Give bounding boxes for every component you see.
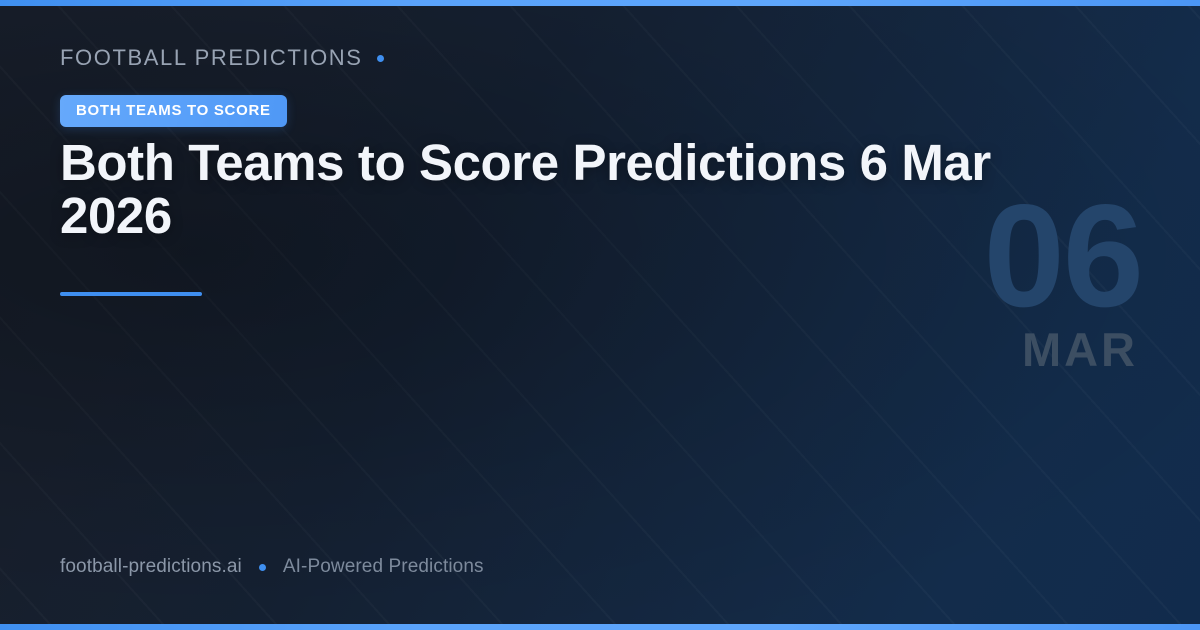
title-underline-accent — [60, 292, 202, 296]
page-title: Both Teams to Score Predictions 6 Mar 20… — [60, 136, 1070, 242]
card-content: FOOTBALL PREDICTIONS BOTH TEAMS TO SCORE… — [60, 0, 1140, 630]
footer: football-predictions.ai AI-Powered Predi… — [60, 556, 484, 578]
footer-separator-dot-icon — [259, 564, 266, 571]
eyebrow-dot-icon — [377, 55, 384, 62]
category-badge[interactable]: BOTH TEAMS TO SCORE — [60, 95, 287, 127]
footer-tagline: AI-Powered Predictions — [283, 556, 484, 578]
eyebrow-label: FOOTBALL PREDICTIONS — [60, 45, 363, 71]
og-card: 06 MAR FOOTBALL PREDICTIONS BOTH TEAMS T… — [0, 0, 1200, 630]
eyebrow: FOOTBALL PREDICTIONS — [60, 45, 384, 71]
footer-site-name: football-predictions.ai — [60, 556, 242, 578]
